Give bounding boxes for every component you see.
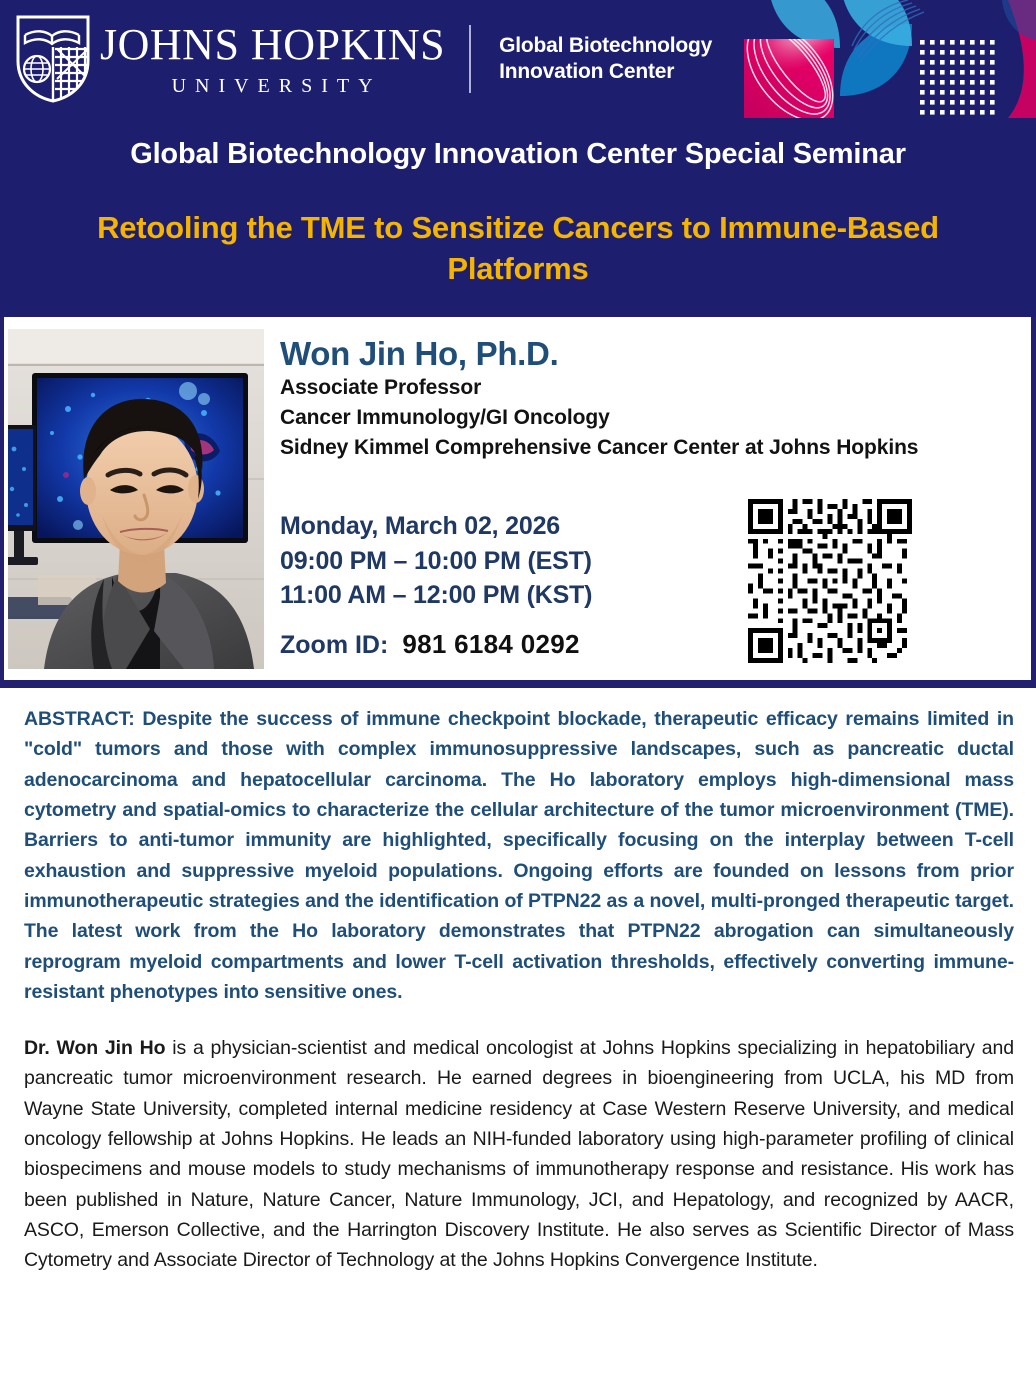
section-divider <box>0 680 1036 688</box>
zoom-id-label: Zoom ID: <box>280 631 388 660</box>
event-time-kst: 11:00 AM – 12:00 PM (KST) <box>280 578 750 613</box>
jhu-name: JOHNS HOPKINS <box>100 23 445 67</box>
jhu-university-label: UNIVERSITY <box>100 76 445 96</box>
speaker-affiliation: Sidney Kimmel Comprehensive Cancer Cente… <box>280 433 1010 463</box>
event-date: Monday, March 02, 2026 <box>280 509 750 544</box>
speaker-department: Cancer Immunology/GI Oncology <box>280 403 1010 433</box>
jhu-shield-icon <box>14 13 92 105</box>
bio-lead-name: Dr. Won Jin Ho <box>24 1037 165 1059</box>
bio-text: is a physician-scientist and medical onc… <box>24 1037 1014 1271</box>
qr-code-svg[interactable] <box>748 499 912 663</box>
left-border <box>0 317 4 683</box>
event-details: Monday, March 02, 2026 09:00 PM – 10:00 … <box>280 509 750 660</box>
poster-header-block: JOHNS HOPKINS UNIVERSITY Global Biotechn… <box>0 0 1036 317</box>
center-name-line2: Innovation Center <box>499 59 712 85</box>
speaker-section: Won Jin Ho, Ph.D. Associate Professor Ca… <box>0 317 1036 683</box>
poster-body: ABSTRACT: Despite the success of immune … <box>0 688 1036 1276</box>
seminar-label: Global Biotechnology Innovation Center S… <box>0 138 1036 171</box>
talk-title: Retooling the TME to Sensitize Cancers t… <box>30 208 1006 290</box>
speaker-name: Won Jin Ho, Ph.D. <box>280 335 1010 373</box>
event-time-est: 09:00 PM – 10:00 PM (EST) <box>280 544 750 579</box>
deco-svg <box>740 0 1036 118</box>
jhu-wordmark: JOHNS HOPKINS UNIVERSITY <box>100 23 445 96</box>
speaker-details: Won Jin Ho, Ph.D. Associate Professor Ca… <box>280 335 1010 462</box>
portrait-image <box>8 329 264 669</box>
logo-divider <box>469 25 471 93</box>
speaker-role: Associate Professor <box>280 373 1010 403</box>
qr-code-icon[interactable] <box>748 499 912 663</box>
bio-paragraph: Dr. Won Jin Ho is a physician-scientist … <box>24 1033 1014 1276</box>
zoom-row: Zoom ID: 981 6184 0292 <box>280 629 750 660</box>
abstract-paragraph: ABSTRACT: Despite the success of immune … <box>24 704 1014 1007</box>
center-name: Global Biotechnology Innovation Center <box>499 33 712 86</box>
center-name-line1: Global Biotechnology <box>499 33 712 59</box>
right-border <box>1031 317 1036 683</box>
seminar-poster: JOHNS HOPKINS UNIVERSITY Global Biotechn… <box>0 0 1036 1392</box>
zoom-id-value[interactable]: 981 6184 0292 <box>402 629 579 660</box>
speaker-portrait <box>8 329 264 669</box>
decorative-pattern-graphic <box>740 0 1036 118</box>
jhu-logo: JOHNS HOPKINS UNIVERSITY <box>14 9 445 109</box>
